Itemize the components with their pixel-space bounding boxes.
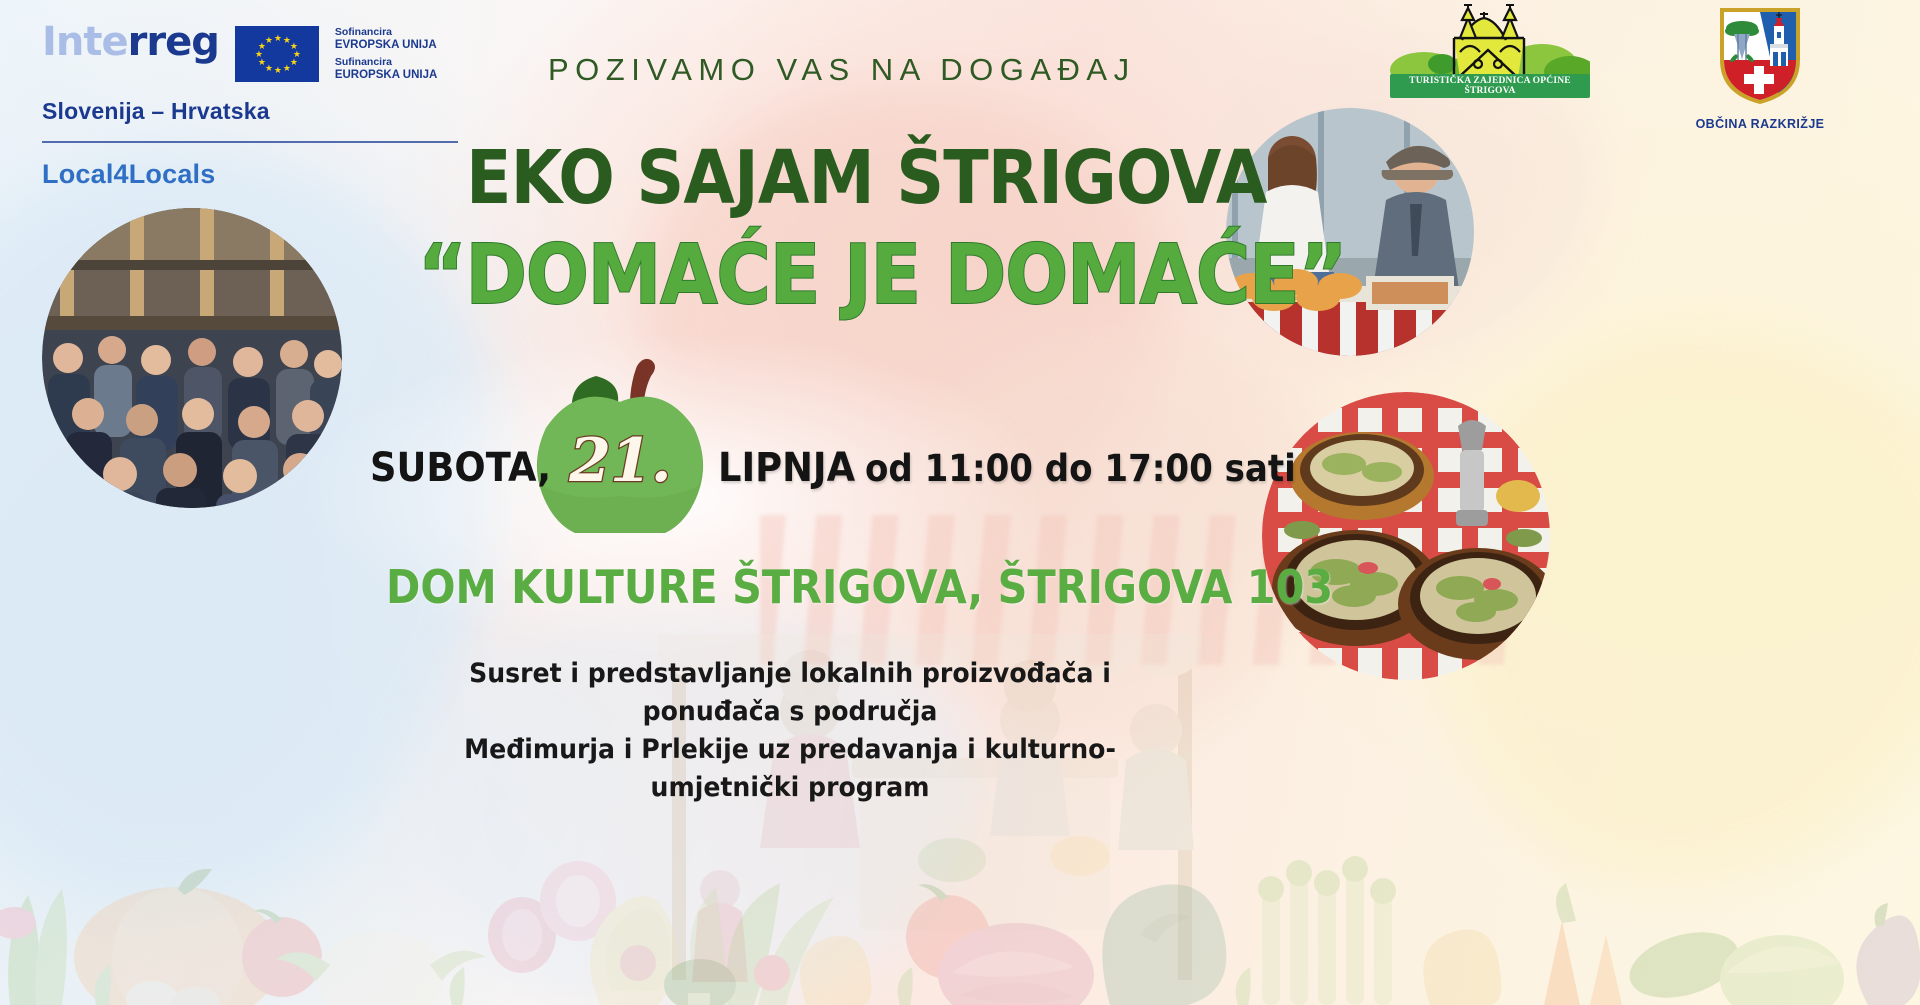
turisticka-zajednica-logo: TURISTIČKA ZAJEDNICA OPĆINE ŠTRIGOVA <box>1390 4 1590 98</box>
event-title-line-2: “DOMAĆE JE DOMAĆE” <box>418 228 1346 323</box>
obcina-caption: OBČINA RAZKRIŽJE <box>1655 117 1865 131</box>
tz-caption: TURISTIČKA ZAJEDNICA OPĆINE ŠTRIGOVA <box>1394 76 1586 96</box>
interreg-wordmark: Interreg <box>42 22 219 62</box>
programme-name: Slovenija – Hrvatska <box>42 98 462 125</box>
event-time: od 11:00 do 17:00 sati <box>865 447 1296 490</box>
event-poster: Interreg ★ ★ ★ ★ ★ ★ ★ ★ ★ ★ ★ ★ Sofinan… <box>0 0 1920 1005</box>
local-food-photo <box>1262 392 1550 680</box>
event-description: Susret i predstavljanje lokalnih proizvo… <box>410 655 1170 807</box>
church-silhouette-icon <box>1390 4 1590 80</box>
eu-line-2: EVROPSKA UNIJA <box>335 39 437 52</box>
eu-line-4: EUROPSKA UNIJA <box>335 69 437 82</box>
tz-caption-bar: TURISTIČKA ZAJEDNICA OPĆINE ŠTRIGOVA <box>1390 74 1590 98</box>
logo-divider <box>42 141 458 143</box>
coat-of-arms-icon <box>1714 4 1806 108</box>
event-description-line-1: Susret i predstavljanje lokalnih proizvo… <box>410 655 1170 731</box>
eu-flag-icon: ★ ★ ★ ★ ★ ★ ★ ★ ★ ★ ★ ★ <box>235 26 319 82</box>
interreg-logo-block: Interreg ★ ★ ★ ★ ★ ★ ★ ★ ★ ★ ★ ★ Sofinan… <box>42 22 462 190</box>
invitation-line: POZIVAMO VAS NA DOGAĐAJ <box>548 52 1136 88</box>
event-month: LIPNJA <box>718 445 855 491</box>
event-title-line-1: EKO SAJAM ŠTRIGOVA <box>466 135 1267 221</box>
project-name: Local4Locals <box>42 159 462 190</box>
event-description-line-2: Međimurja i Prlekije uz predavanja i kul… <box>410 731 1170 807</box>
obcina-razkrizje-logo: OBČINA RAZKRIŽJE <box>1655 4 1865 131</box>
crowd-at-event-photo <box>42 208 342 508</box>
eu-funding-text: Sofinancira EVROPSKA UNIJA Sufinancira E… <box>335 26 437 82</box>
interreg-wordmark-dark: rreg <box>128 19 219 65</box>
event-venue: DOM KULTURE ŠTRIGOVA, ŠTRIGOVA 103 <box>386 560 1333 614</box>
eu-line-3: Sufinancira <box>335 56 437 69</box>
event-date-row: SUBOTA, LIPNJA od 11:00 do 17:00 sati <box>370 435 1270 515</box>
eu-line-1: Sofinancira <box>335 26 437 39</box>
interreg-wordmark-light: Inte <box>42 19 128 65</box>
event-weekday: SUBOTA, <box>370 445 551 491</box>
vegetable-border-illustration <box>0 815 1920 1005</box>
